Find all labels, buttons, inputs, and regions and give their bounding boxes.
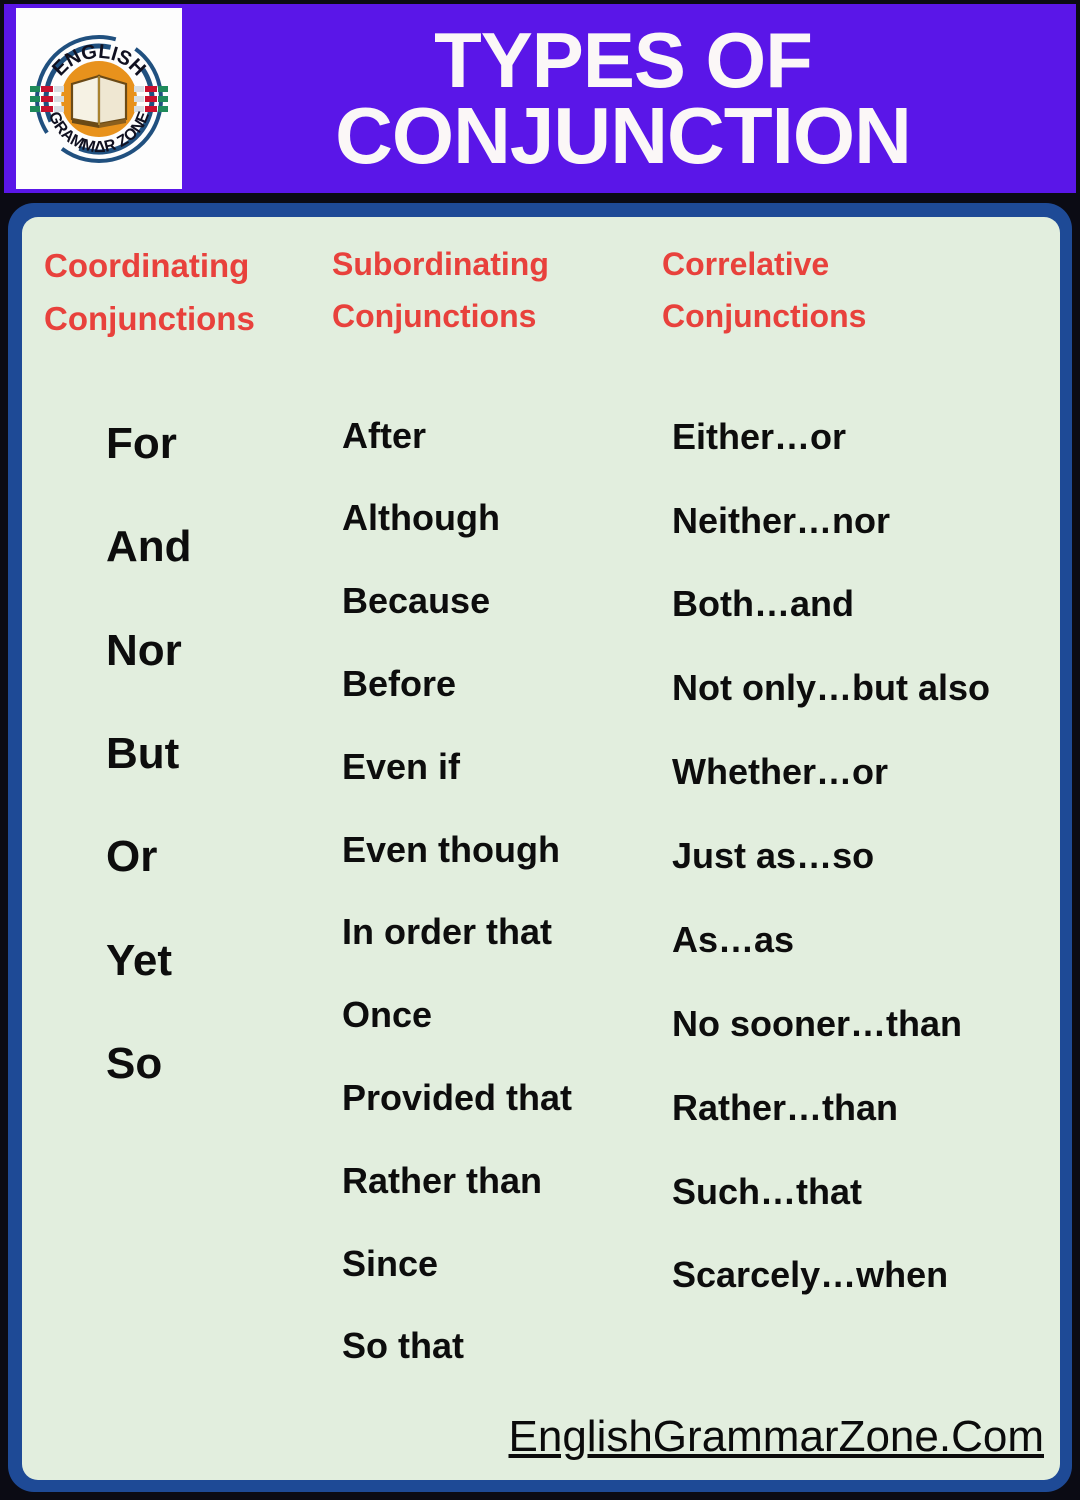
english-grammar-zone-logo: ENGLISH GRAMMΔR ZONE: [24, 24, 174, 174]
title-line-2: CONJUNCTION: [188, 98, 1058, 175]
list-item: Yet: [106, 909, 332, 1012]
page-title: TYPES OF CONJUNCTION: [182, 23, 1076, 175]
list-item: No sooner…than: [672, 982, 1047, 1066]
list-item: Even if: [342, 726, 662, 809]
list-item: Such…that: [672, 1150, 1047, 1234]
poster-root: ENGLISH GRAMMΔR ZONE TYPES OF CONJUNCTIO…: [0, 0, 1080, 1500]
list-item: Since: [342, 1223, 662, 1306]
list-item: Rather than: [342, 1140, 662, 1223]
list-correlative: Either…or Neither…nor Both…and Not only……: [662, 395, 1047, 1318]
list-subordinating: After Although Because Before Even if Ev…: [332, 395, 662, 1389]
title-line-1: TYPES OF: [188, 23, 1058, 98]
list-item: Either…or: [672, 395, 1047, 479]
list-item: Just as…so: [672, 814, 1047, 898]
list-item: In order that: [342, 891, 662, 974]
column-header-subordinating: Subordinating Conjunctions: [332, 239, 662, 343]
list-item: But: [106, 702, 332, 805]
column-header-coordinating: Coordinating Conjunctions: [44, 239, 332, 346]
list-item: And: [106, 495, 332, 598]
list-item: So that: [342, 1305, 662, 1388]
list-item: Provided that: [342, 1057, 662, 1140]
logo-container: ENGLISH GRAMMΔR ZONE: [16, 8, 182, 189]
columns-container: Coordinating Conjunctions For And Nor Bu…: [22, 217, 1060, 1480]
list-coordinating: For And Nor But Or Yet So: [44, 392, 332, 1116]
list-item: Because: [342, 560, 662, 643]
list-item: Although: [342, 477, 662, 560]
open-book-icon: [72, 76, 126, 128]
list-item: Whether…or: [672, 730, 1047, 814]
list-item: Both…and: [672, 562, 1047, 646]
content-card-border: Coordinating Conjunctions For And Nor Bu…: [8, 203, 1072, 1492]
list-item: Before: [342, 643, 662, 726]
list-item: Once: [342, 974, 662, 1057]
column-header-correlative: Correlative Conjunctions: [662, 239, 1047, 343]
list-item: For: [106, 392, 332, 495]
list-item: As…as: [672, 898, 1047, 982]
list-item: After: [342, 395, 662, 478]
list-item: Rather…than: [672, 1066, 1047, 1150]
column-subordinating: Subordinating Conjunctions After Althoug…: [332, 239, 662, 1480]
list-item: Neither…nor: [672, 479, 1047, 563]
header-band: ENGLISH GRAMMΔR ZONE TYPES OF CONJUNCTIO…: [4, 4, 1076, 193]
logo-bars-left: [30, 86, 64, 112]
column-correlative: Correlative Conjunctions Either…or Neith…: [662, 239, 1047, 1480]
list-item: So: [106, 1012, 332, 1115]
list-item: Not only…but also: [672, 646, 1047, 730]
website-link[interactable]: EnglishGrammarZone.Com: [509, 1412, 1045, 1462]
content-card: Coordinating Conjunctions For And Nor Bu…: [22, 217, 1060, 1480]
list-item: Nor: [106, 599, 332, 702]
list-item: Even though: [342, 809, 662, 892]
list-item: Scarcely…when: [672, 1233, 1047, 1317]
list-item: Or: [106, 805, 332, 908]
column-coordinating: Coordinating Conjunctions For And Nor Bu…: [22, 239, 332, 1480]
logo-bars-right: [134, 86, 168, 112]
